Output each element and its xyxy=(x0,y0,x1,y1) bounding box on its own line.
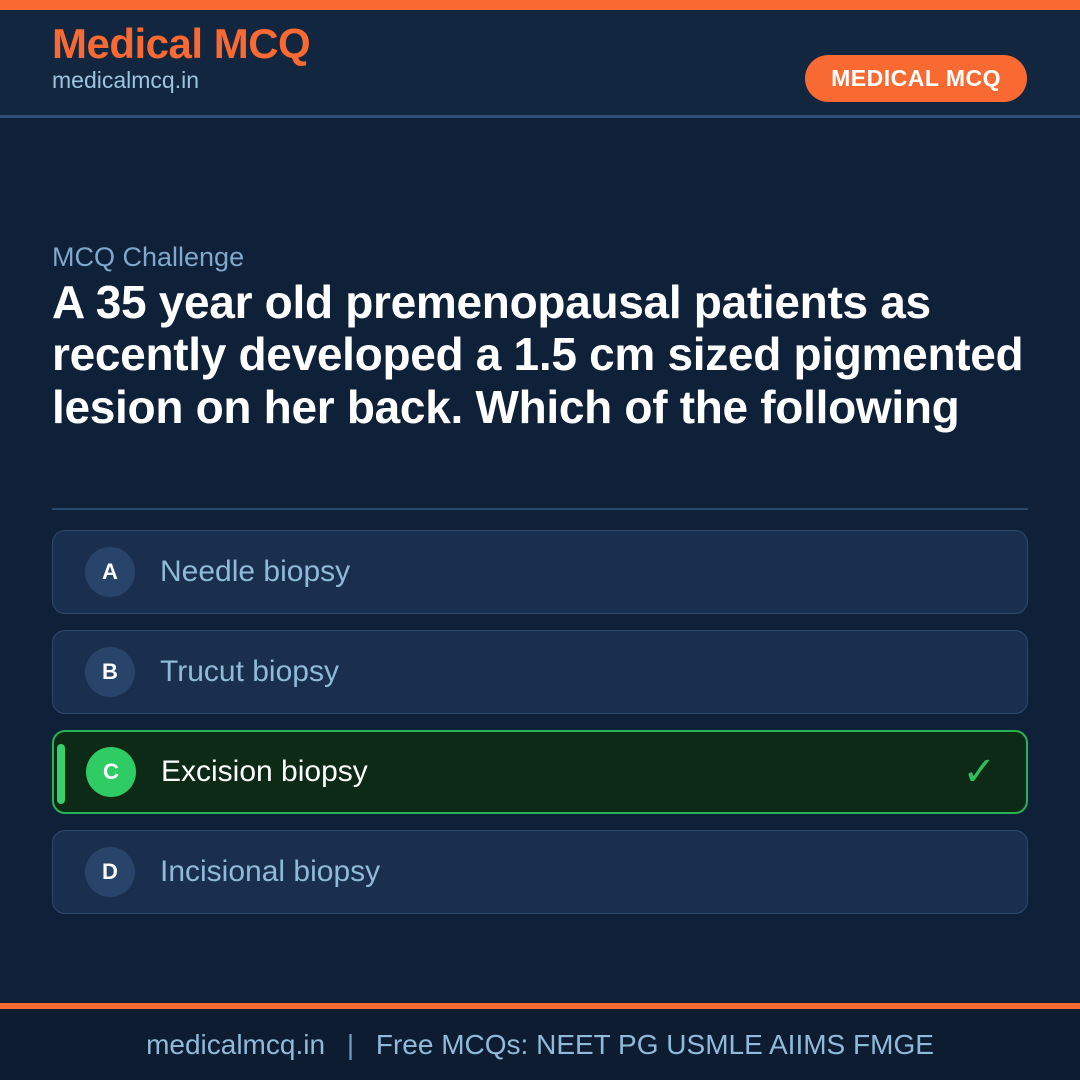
option-d[interactable]: D Incisional biopsy xyxy=(52,830,1028,914)
option-c[interactable]: C Excision biopsy ✓ xyxy=(52,730,1028,814)
option-a[interactable]: A Needle biopsy xyxy=(52,530,1028,614)
brand-title: Medical MCQ xyxy=(52,22,310,66)
question-text: A 35 year old premenopausal patients as … xyxy=(52,276,1032,433)
options-list: A Needle biopsy B Trucut biopsy C Excisi… xyxy=(52,530,1028,930)
footer-exams: Free MCQs: NEET PG USMLE AIIMS FMGE xyxy=(376,1029,934,1060)
mcq-card: Medical MCQ medicalmcq.in MEDICAL MCQ MC… xyxy=(0,0,1080,1080)
footer-site[interactable]: medicalmcq.in xyxy=(146,1029,325,1060)
main-content: MCQ Challenge A 35 year old premenopausa… xyxy=(0,121,1080,1001)
option-b[interactable]: B Trucut biopsy xyxy=(52,630,1028,714)
option-letter-badge: C xyxy=(86,747,136,797)
brand-block: Medical MCQ medicalmcq.in xyxy=(52,22,310,93)
option-letter-badge: D xyxy=(85,847,135,897)
kicker-label: MCQ Challenge xyxy=(52,244,244,271)
option-label: Trucut biopsy xyxy=(160,655,339,689)
footer-separator: | xyxy=(347,1029,354,1060)
top-accent-bar xyxy=(0,0,1080,10)
page-footer: medicalmcq.in | Free MCQs: NEET PG USMLE… xyxy=(0,1009,1080,1080)
option-label: Needle biopsy xyxy=(160,555,350,589)
option-letter-badge: A xyxy=(85,547,135,597)
brand-subtitle: medicalmcq.in xyxy=(52,68,310,93)
option-label: Excision biopsy xyxy=(161,755,368,789)
option-letter-badge: B xyxy=(85,647,135,697)
page-header: Medical MCQ medicalmcq.in MEDICAL MCQ xyxy=(0,10,1080,118)
question-divider xyxy=(52,508,1028,510)
check-icon: ✓ xyxy=(962,752,996,792)
footer-text: medicalmcq.in | Free MCQs: NEET PG USMLE… xyxy=(146,1029,934,1061)
option-label: Incisional biopsy xyxy=(160,855,380,889)
correct-accent-bar xyxy=(57,744,65,804)
header-badge[interactable]: MEDICAL MCQ xyxy=(805,55,1027,102)
